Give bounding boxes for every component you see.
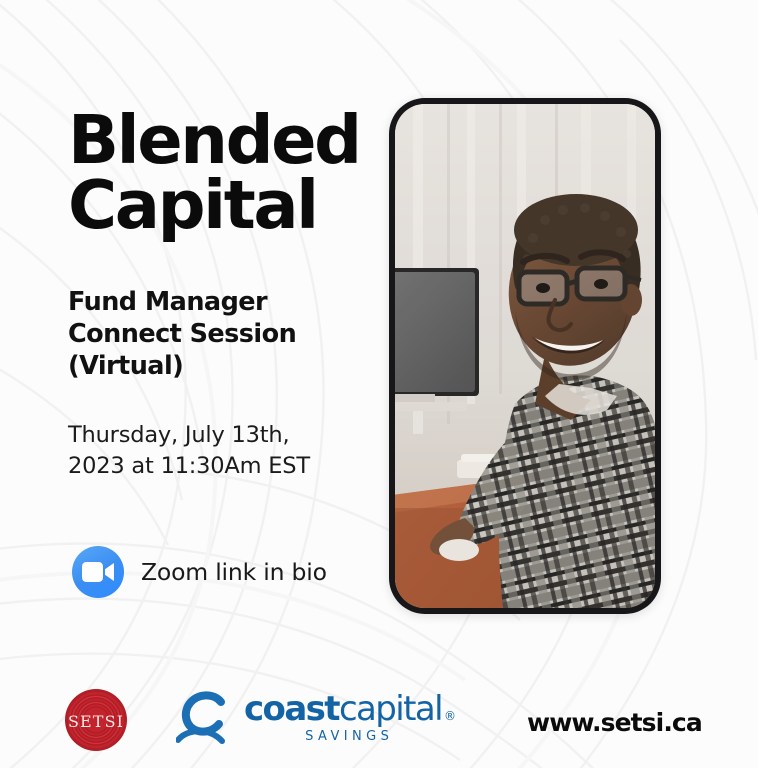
setsi-logo-text: SETSI [68, 712, 124, 731]
zoom-link-label: Zoom link in bio [141, 558, 327, 586]
website-url: www.setsi.ca [527, 708, 702, 737]
photo-man-at-desk [395, 104, 655, 608]
coast-capital-tagline: SAVINGS [305, 730, 393, 743]
capital-word: capital [339, 692, 442, 726]
coast-capital-wordmark: coastcapital® SAVINGS [244, 692, 454, 743]
zoom-link-row[interactable]: Zoom link in bio [72, 546, 327, 598]
phone-screen [395, 104, 655, 608]
footer-logo-bar: SETSI coastcapital® SAVINGS www.setsi.ca [0, 672, 758, 768]
phone-mockup-frame [389, 98, 661, 614]
coast-capital-name: coastcapital® [244, 692, 454, 726]
zoom-video-camera-icon[interactable] [72, 546, 124, 598]
text-column: Blended Capital Fund Manager Connect Ses… [68, 0, 388, 768]
poster-canvas: Blended Capital Fund Manager Connect Ses… [0, 0, 758, 768]
registered-mark-icon: ® [444, 710, 454, 722]
event-datetime: Thursday, July 13th, 2023 at 11:30Am EST [68, 420, 368, 482]
event-subtitle: Fund Manager Connect Session (Virtual) [68, 286, 368, 382]
page-title: Blended Capital [68, 108, 398, 238]
coast-capital-logo: coastcapital® SAVINGS [176, 688, 454, 746]
coast-word: coast [244, 692, 339, 726]
setsi-logo: SETSI [64, 688, 128, 752]
coast-capital-c-mark-icon [176, 688, 234, 746]
